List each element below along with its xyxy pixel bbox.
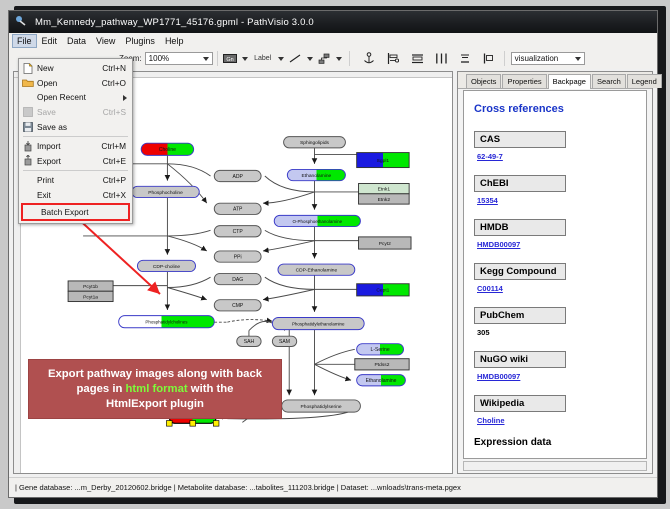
cross-references-heading: Cross references [474, 103, 636, 115]
menu-separator-2 [23, 170, 128, 171]
annotation-callout: Export pathway images along with back pa… [28, 359, 282, 419]
file-dropdown-menu[interactable]: New Ctrl+N Open Ctrl+O Open Recent Save [18, 58, 133, 224]
anchor-button[interactable] [362, 51, 377, 66]
metabolite-node-dag-1[interactable]: DAG [214, 273, 261, 284]
node-label: Ptdss2 [375, 362, 390, 368]
menu-item-save-as[interactable]: Save as [19, 119, 132, 134]
node-label: SAM [279, 339, 290, 345]
node-label: Sphingolipids [300, 140, 329, 146]
metabolite-node-sah[interactable]: SAH [237, 336, 261, 346]
node-label: Sgpl1 [377, 158, 390, 164]
node-label: Pcyt1b [83, 284, 98, 290]
status-text: | Gene database: ...m_Derby_20120602.bri… [9, 483, 461, 492]
metabolite-node-atp[interactable]: ATP [214, 203, 261, 214]
node-label: Pcyt2 [379, 241, 391, 247]
toolbar-separator [217, 51, 218, 66]
selection-handle[interactable] [166, 421, 172, 427]
status-bar: | Gene database: ...m_Derby_20120602.bri… [9, 477, 657, 497]
menu-item-open-recent[interactable]: Open Recent [19, 90, 132, 105]
toolbar-separator-2 [349, 51, 350, 66]
backpage-content[interactable]: Cross references CAS 62-49-7 ChEBI 15354… [463, 90, 647, 459]
metabolite-node-ethanolamine-2[interactable]: Ethanolamine [357, 375, 406, 386]
menu-item-new-accel: Ctrl+N [102, 63, 132, 73]
selection-handle[interactable] [190, 421, 196, 427]
metabolite-node-phosphatidylethanolamine[interactable]: Phosphatidylethanolamine [272, 317, 364, 329]
menu-item-save-label: Save [37, 107, 103, 117]
menu-item-batch-export[interactable]: Batch Export [21, 203, 130, 221]
menu-item-new-label: New [37, 63, 102, 73]
zoom-combobox[interactable]: 100% [145, 52, 213, 65]
annotation-highlight: html format [126, 383, 188, 395]
xref-value-nugo[interactable]: HMDB00097 [477, 372, 636, 381]
open-folder-icon [19, 78, 37, 88]
node-label: Etnk2 [378, 197, 391, 203]
menu-view[interactable]: View [91, 34, 120, 48]
node-label: Choline [159, 147, 176, 153]
datanode-dropdown-icon[interactable] [242, 57, 248, 61]
xref-header-cas: CAS [474, 131, 566, 148]
menu-item-import-accel: Ctrl+M [101, 141, 132, 151]
save-disk-icon [19, 107, 37, 117]
gene-node-etnk1[interactable]: Etnk1 [359, 183, 410, 193]
metabolite-node-sphingolipids[interactable]: Sphingolipids [284, 137, 346, 148]
menu-separator-1 [23, 136, 128, 137]
line-button[interactable] [288, 51, 303, 66]
menu-item-open-label: Open [37, 78, 102, 88]
node-label: Etnk1 [378, 187, 391, 193]
menu-item-print-label: Print [37, 175, 103, 185]
chevron-down-icon-2 [575, 57, 581, 61]
menu-item-import[interactable]: Import Ctrl+M [19, 139, 132, 154]
menu-item-export-label: Export [37, 156, 103, 166]
node-label: Ethanolamine [366, 378, 397, 384]
group-button[interactable] [458, 51, 473, 66]
node-label: Phosphatidylethanolamine [292, 321, 345, 326]
xref-value-hmdb[interactable]: HMDB00097 [477, 240, 636, 249]
metabolite-node-sam[interactable]: SAM [272, 336, 296, 346]
title-bar: Mm_Kennedy_pathway_WP1771_45176.gpml - P… [9, 11, 657, 33]
xref-value-kegg[interactable]: C00114 [477, 284, 636, 293]
metabolite-node-ppi[interactable]: PPi [214, 251, 261, 262]
svg-text:Gn: Gn [227, 57, 234, 63]
label-dropdown-icon[interactable] [278, 57, 284, 61]
xref-header-chebi: ChEBI [474, 175, 566, 192]
submenu-chevron-right-icon [123, 95, 127, 101]
menu-help[interactable]: Help [160, 34, 189, 48]
xref-header-kegg: Kegg Compound [474, 263, 566, 280]
xref-link-kegg[interactable]: C00114 [477, 284, 503, 293]
datanode-shape-button[interactable]: Gn [223, 51, 238, 66]
visualization-combobox[interactable]: visualization [511, 52, 585, 65]
annotation-line-2a: pages in [77, 383, 126, 395]
menu-item-new[interactable]: New Ctrl+N [19, 61, 132, 76]
metabolite-node-l-serine[interactable]: L-Serine [357, 344, 404, 355]
xref-value-cas[interactable]: 62-49-7 [477, 152, 636, 161]
xref-link-wikipedia[interactable]: Choline [477, 416, 505, 425]
node-label: Cept1 [376, 288, 389, 294]
node-label: Pcyt1a [83, 294, 98, 300]
metabolite-node-adp[interactable]: ADP [214, 170, 261, 181]
node-label: Ethanolamine [302, 173, 332, 179]
menu-item-import-label: Import [37, 141, 101, 151]
side-panel-tabs[interactable]: Objects Properties Backpage Search Legen… [458, 72, 652, 89]
node-label: PPi [234, 254, 242, 260]
gene-node-pcyt1a[interactable]: Pcyt1a [68, 291, 113, 301]
metabolite-node-phosphatidylserine[interactable]: Phosphatidylserine [282, 400, 361, 412]
menu-item-batch-export-label: Batch Export [41, 207, 128, 217]
xref-value-wikipedia[interactable]: Choline [477, 416, 636, 425]
screenshot-root: Mm_Kennedy_pathway_WP1771_45176.gpml - P… [0, 0, 670, 509]
xref-link-chebi[interactable]: 15354 [477, 196, 498, 205]
menu-item-export-accel: Ctrl+E [103, 156, 132, 166]
xref-value-chebi[interactable]: 15354 [477, 196, 636, 205]
align-left-button[interactable] [386, 51, 401, 66]
annotation-line-2b: with the [188, 383, 234, 395]
xref-link-cas[interactable]: 62-49-7 [477, 152, 503, 161]
xref-value-pubchem: 305 [477, 328, 636, 337]
zoom-value: 100% [149, 54, 169, 63]
metabolite-node-cdp-ethanolamine[interactable]: CDP-Ethanolamine [278, 264, 355, 275]
menu-item-save-as-label: Save as [37, 122, 126, 132]
metabolite-node-ctp[interactable]: CTP [214, 226, 261, 237]
tab-backpage[interactable]: Backpage [548, 74, 591, 89]
chevron-down-icon [203, 57, 209, 61]
menu-bar[interactable]: File Edit Data View Plugins Help [9, 33, 657, 49]
menu-item-exit-accel: Ctrl+X [103, 190, 132, 200]
interaction-button[interactable] [317, 51, 332, 66]
node-label: CTP [233, 229, 244, 235]
gene-node-etnk2[interactable]: Etnk2 [359, 194, 410, 204]
menu-item-print[interactable]: Print Ctrl+P [19, 173, 132, 188]
menu-item-open-accel: Ctrl+O [102, 78, 132, 88]
side-panel: Objects Properties Backpage Search Legen… [457, 71, 653, 474]
tab-search[interactable]: Search [592, 74, 626, 88]
annotation-line-3: HtmlExport plugin [106, 397, 204, 412]
tab-properties[interactable]: Properties [502, 74, 546, 88]
annotation-line-2: pages in html format with the [77, 382, 234, 397]
annotation-line-1: Export pathway images along with back [48, 367, 262, 382]
node-label: CDP-choline [153, 264, 181, 270]
xref-header-wikipedia: Wikipedia [474, 395, 566, 412]
node-label: ADP [232, 174, 243, 180]
xref-link-nugo[interactable]: HMDB00097 [477, 372, 520, 381]
menu-item-print-accel: Ctrl+P [103, 175, 132, 185]
menu-item-exit[interactable]: Exit Ctrl+X [19, 188, 132, 203]
gene-node-pcyt2[interactable]: Pcyt2 [359, 237, 411, 249]
node-label: L-Serine [371, 347, 390, 353]
tab-objects[interactable]: Objects [466, 74, 501, 88]
expression-data-heading: Expression data [474, 437, 636, 448]
label-button[interactable]: Label [252, 51, 274, 66]
node-label: CDP-Ethanolamine [296, 268, 338, 274]
menu-data[interactable]: Data [62, 34, 91, 48]
toolbar-separator-3 [504, 51, 505, 66]
xref-header-nugo: NuGO wiki [474, 351, 566, 368]
side-panel-horizontal-scrollbar[interactable] [463, 461, 647, 471]
node-label: SAH [244, 339, 255, 345]
metabolite-node-cmp[interactable]: CMP [214, 300, 261, 311]
save-as-disk-icon [19, 122, 37, 132]
selection-handle[interactable] [213, 421, 219, 427]
order-button[interactable] [482, 51, 497, 66]
gene-node-sgpl1[interactable]: Sgpl1 [357, 153, 409, 168]
gene-node-ptdss2[interactable]: Ptdss2 [355, 359, 409, 370]
node-label: Phosphatidylserine [301, 404, 342, 410]
xref-header-hmdb: HMDB [474, 219, 566, 236]
gene-node-pcyt1b[interactable]: Pcyt1b [68, 281, 113, 291]
metabolite-node-cdp-choline[interactable]: CDP-choline [137, 260, 195, 271]
menu-item-open[interactable]: Open Ctrl+O [19, 76, 132, 91]
menu-item-save[interactable]: Save Ctrl+S [19, 105, 132, 120]
menu-file[interactable]: File [12, 34, 37, 48]
line-dropdown-icon[interactable] [307, 57, 313, 61]
new-document-icon [19, 63, 37, 74]
node-label: Phosphatidylcholines [145, 320, 188, 325]
label-button-text: Label [254, 55, 271, 62]
node-label: ATP [233, 207, 243, 213]
pathvisio-application-window: Mm_Kennedy_pathway_WP1771_45176.gpml - P… [8, 10, 658, 498]
stack-button[interactable] [434, 51, 449, 66]
visualization-value: visualization [515, 54, 559, 63]
metabolite-node-choline[interactable]: Choline [141, 143, 193, 155]
align-center-button[interactable] [410, 51, 425, 66]
metabolite-node-ethanolamine[interactable]: Ethanolamine [287, 169, 345, 180]
node-label: DAG [232, 277, 243, 283]
interaction-dropdown-icon[interactable] [336, 57, 342, 61]
menu-item-open-recent-label: Open Recent [37, 92, 132, 102]
export-icon [19, 155, 37, 166]
pathvisio-app-icon [15, 15, 29, 29]
gene-node-cept1[interactable]: Cept1 [357, 284, 409, 296]
menu-item-export[interactable]: Export Ctrl+E [19, 154, 132, 169]
window-title: Mm_Kennedy_pathway_WP1771_45176.gpml - P… [35, 17, 314, 28]
menu-plugins[interactable]: Plugins [120, 34, 160, 48]
tab-legend[interactable]: Legend [627, 74, 662, 88]
metabolite-node-o-phosphoethanolamine[interactable]: O-Phosphoethanolamine [274, 215, 360, 226]
import-icon [19, 141, 37, 152]
node-label: CMP [232, 303, 244, 309]
menu-edit[interactable]: Edit [37, 34, 63, 48]
metabolite-node-phosphocholine[interactable]: Phosphocholine [132, 186, 199, 197]
xref-link-hmdb[interactable]: HMDB00097 [477, 240, 520, 249]
menu-item-exit-label: Exit [37, 190, 103, 200]
xref-header-pubchem: PubChem [474, 307, 566, 324]
menu-item-save-accel: Ctrl+S [103, 107, 132, 117]
metabolite-node-phosphatidylcholines[interactable]: Phosphatidylcholines [119, 316, 215, 328]
node-label: O-Phosphoethanolamine [293, 219, 343, 224]
node-label: Phosphocholine [148, 190, 183, 196]
